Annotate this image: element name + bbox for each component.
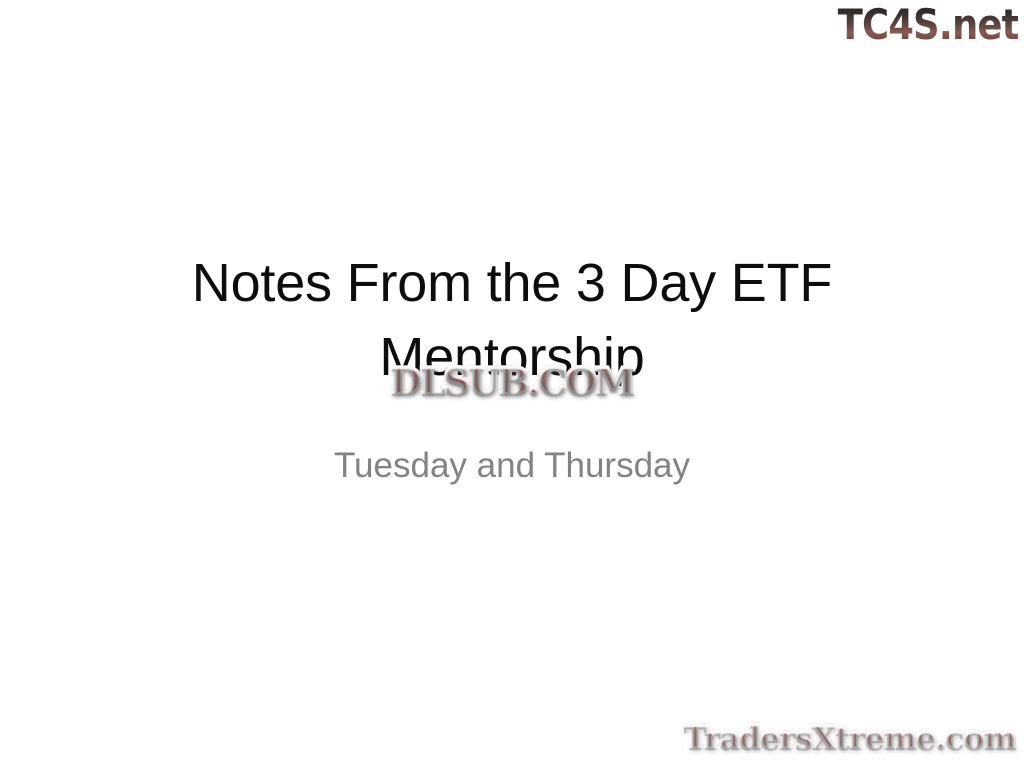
slide-subtitle: Tuesday and Thursday <box>0 443 1024 489</box>
tradersxtreme-watermark: TradersXtreme.com <box>684 720 1016 756</box>
dlsub-watermark-text: DLSUB.COM <box>390 361 633 403</box>
presentation-slide: TC4S.net Notes From the 3 Day ETF Mentor… <box>0 0 1024 768</box>
subtitle-placeholder: Tuesday and Thursday <box>0 443 1024 489</box>
dlsub-watermark: DLSUB.COM <box>390 362 633 402</box>
tc4s-site-logo: TC4S.net <box>837 2 1018 48</box>
tradersxtreme-watermark-text: TradersXtreme.com <box>684 720 1016 756</box>
